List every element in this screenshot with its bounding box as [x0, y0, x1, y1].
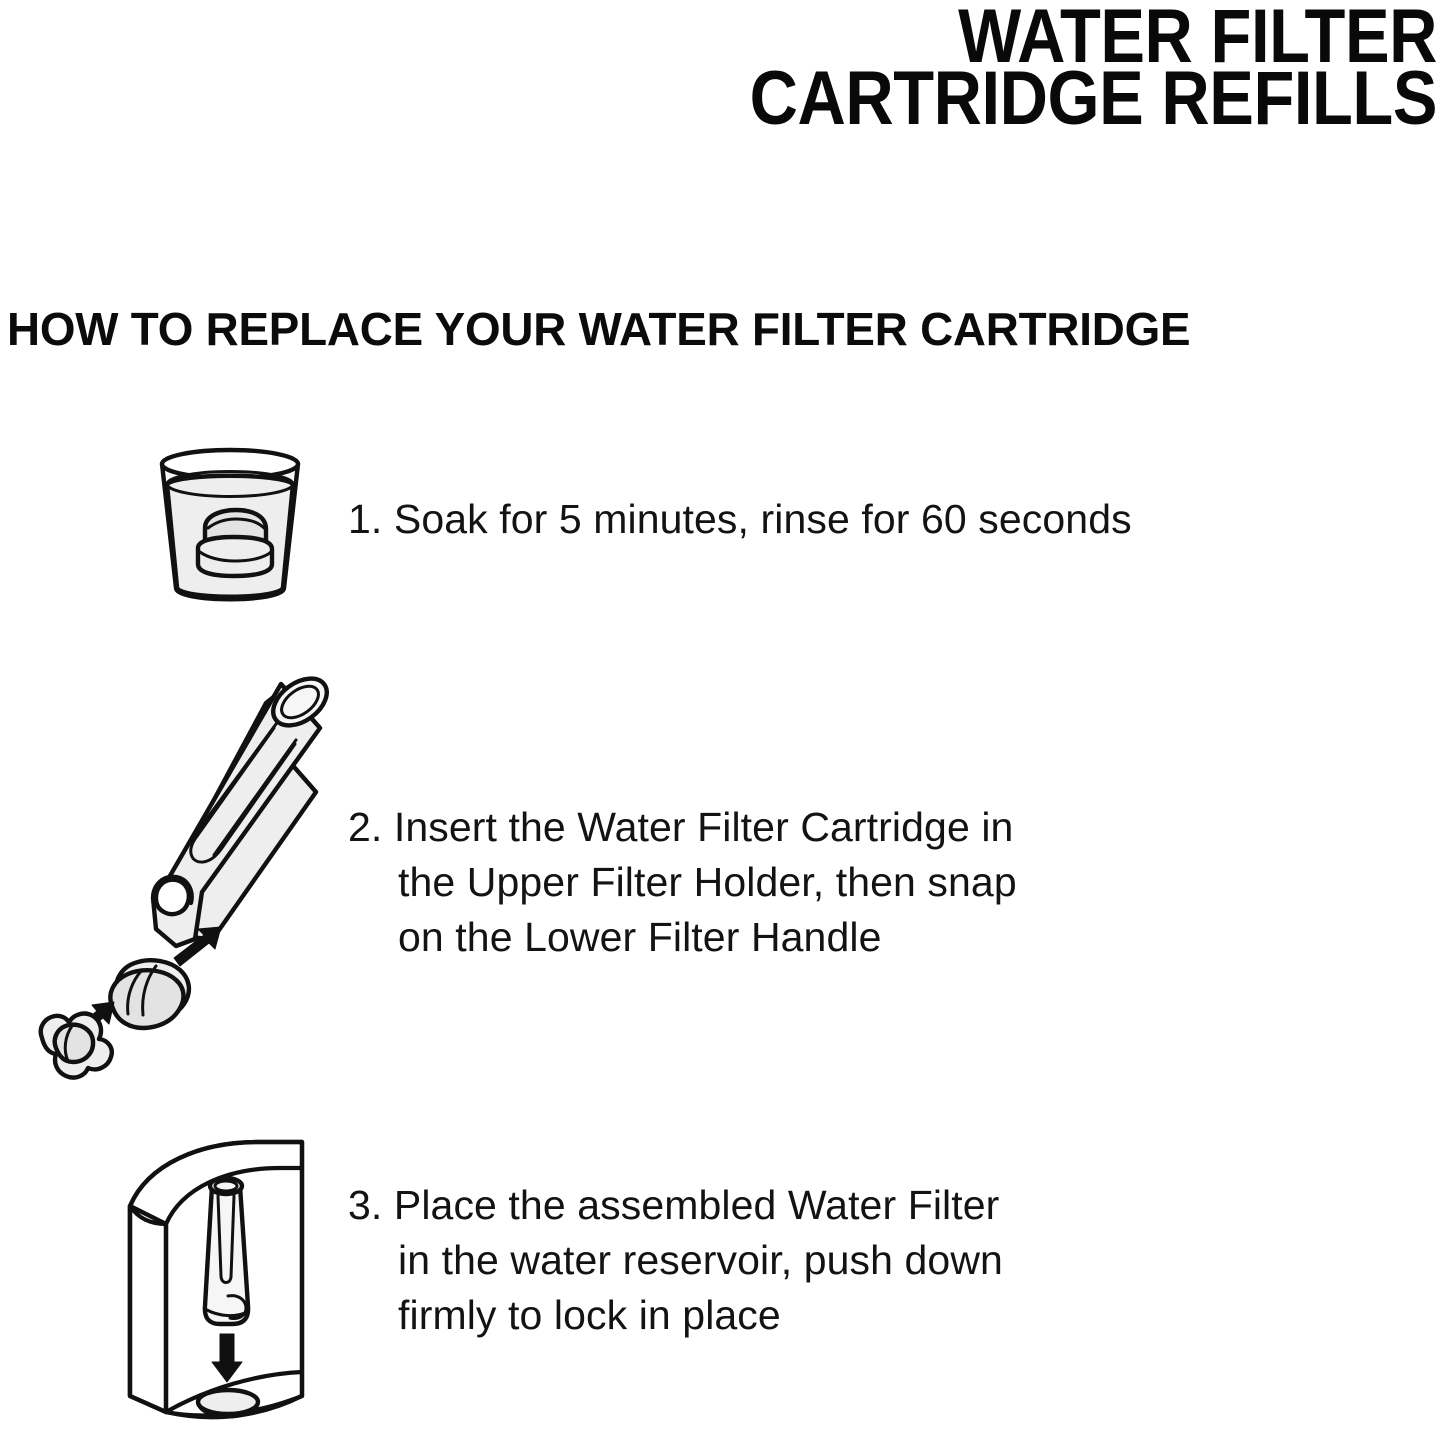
step-3-text: 3. Place the assembled Water Filter in t…: [348, 1178, 1003, 1343]
water-reservoir-icon: [108, 1128, 358, 1436]
instruction-sheet: WATER FILTER CARTRIDGE REFILLS HOW TO RE…: [0, 0, 1445, 1436]
step-1-line-1: 1. Soak for 5 minutes, rinse for 60 seco…: [348, 492, 1132, 547]
step-3-line-3: firmly to lock in place: [348, 1288, 1003, 1343]
step-2-text: 2. Insert the Water Filter Cartridge in …: [348, 800, 1017, 965]
step-2-line-3: on the Lower Filter Handle: [348, 910, 1017, 965]
section-heading: HOW TO REPLACE YOUR WATER FILTER CARTRID…: [7, 303, 1432, 355]
soaking-glass-icon: [150, 440, 310, 620]
step-3-line-2: in the water reservoir, push down: [348, 1233, 1003, 1288]
step-2-line-2: the Upper Filter Holder, then snap: [348, 855, 1017, 910]
step-3-line-1: 3. Place the assembled Water Filter: [348, 1178, 1003, 1233]
page-title: WATER FILTER CARTRIDGE REFILLS: [172, 0, 1437, 130]
step-1-text: 1. Soak for 5 minutes, rinse for 60 seco…: [348, 492, 1132, 547]
title-line-2: CARTRIDGE REFILLS: [172, 68, 1437, 130]
exploded-filter-assembly-icon: [52, 640, 352, 1060]
step-2-line-1: 2. Insert the Water Filter Cartridge in: [348, 800, 1017, 855]
